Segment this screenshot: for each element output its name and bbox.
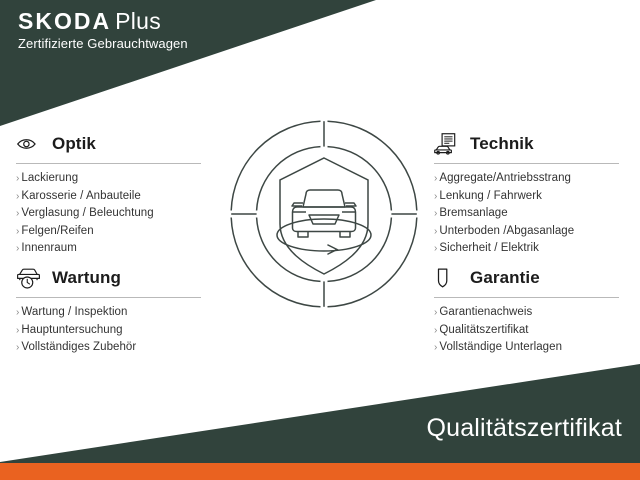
chevron-right-icon: ›: [434, 191, 437, 202]
eye-icon: [16, 131, 46, 157]
list-item-label: Sicherheit / Elektrik: [439, 242, 538, 254]
section-title: Technik: [470, 134, 534, 154]
brand-lockup: SKODAPlus Zertifizierte Gebrauchtwagen: [18, 8, 318, 52]
shield-icon: [434, 265, 464, 291]
chevron-right-icon: ›: [434, 342, 437, 353]
list-item-label: Bremsanlage: [439, 207, 507, 219]
list-item-label: Vollständige Unterlagen: [439, 341, 562, 353]
list-item: ›Bremsanlage: [434, 205, 634, 223]
section-item-list: ›Lackierung ›Karosserie / Anbauteile ›Ve…: [16, 170, 216, 258]
chevron-right-icon: ›: [16, 243, 19, 254]
section-title: Wartung: [52, 268, 121, 288]
chevron-right-icon: ›: [16, 173, 19, 184]
list-item-label: Hauptuntersuchung: [21, 324, 122, 336]
list-item-label: Vollständiges Zubehör: [21, 341, 136, 353]
section-optik: Optik ›Lackierung ›Karosserie / Anbautei…: [16, 130, 216, 258]
list-item: ›Sicherheit / Elektrik: [434, 240, 634, 258]
section-garantie: Garantie ›Garantienachweis ›Qualitätszer…: [434, 264, 634, 357]
section-divider: [16, 163, 201, 164]
chevron-right-icon: ›: [16, 307, 19, 318]
list-item-label: Qualitätszertifikat: [439, 324, 528, 336]
chevron-right-icon: ›: [434, 307, 437, 318]
brand-title-row: SKODAPlus: [18, 8, 318, 35]
list-item: ›Aggregate/Antriebsstrang: [434, 170, 634, 188]
brand-tagline: Zertifizierte Gebrauchtwagen: [18, 36, 318, 52]
chevron-right-icon: ›: [16, 342, 19, 353]
section-wartung: Wartung ›Wartung / Inspektion ›Hauptunte…: [16, 264, 216, 357]
list-item-label: Aggregate/Antriebsstrang: [439, 172, 571, 184]
section-item-list: ›Aggregate/Antriebsstrang ›Lenkung / Fah…: [434, 170, 634, 258]
section-divider: [16, 297, 201, 298]
chevron-right-icon: ›: [434, 226, 437, 237]
list-item-label: Wartung / Inspektion: [21, 306, 127, 318]
section-divider: [434, 163, 619, 164]
list-item: ›Verglasung / Beleuchtung: [16, 205, 216, 223]
section-divider: [434, 297, 619, 298]
section-header: Technik: [434, 130, 634, 158]
list-item-label: Karosserie / Anbauteile: [21, 190, 140, 202]
section-header: Optik: [16, 130, 216, 158]
chevron-right-icon: ›: [16, 226, 19, 237]
orange-bottom-bar: [0, 463, 640, 480]
car-document-icon: [434, 131, 464, 157]
chevron-right-icon: ›: [16, 325, 19, 336]
list-item-label: Lackierung: [21, 172, 78, 184]
list-item-label: Innenraum: [21, 242, 76, 254]
brand-name: SKODA: [18, 8, 111, 34]
car-service-icon: [16, 265, 46, 291]
brand-suffix: Plus: [115, 8, 161, 34]
list-item: ›Felgen/Reifen: [16, 223, 216, 241]
chevron-right-icon: ›: [16, 191, 19, 202]
list-item: ›Garantienachweis: [434, 304, 634, 322]
car-shield-circle-emblem: [228, 118, 420, 310]
list-item-label: Verglasung / Beleuchtung: [21, 207, 153, 219]
section-item-list: ›Garantienachweis ›Qualitätszertifikat ›…: [434, 304, 634, 357]
chevron-right-icon: ›: [434, 325, 437, 336]
list-item-label: Felgen/Reifen: [21, 225, 93, 237]
section-technik: Technik ›Aggregate/Antriebsstrang ›Lenku…: [434, 130, 634, 258]
list-item: ›Karosserie / Anbauteile: [16, 188, 216, 206]
list-item-label: Lenkung / Fahrwerk: [439, 190, 542, 202]
certificate-page: SKODAPlus Zertifizierte Gebrauchtwagen O…: [0, 0, 640, 480]
list-item: ›Lackierung: [16, 170, 216, 188]
list-item-label: Garantienachweis: [439, 306, 532, 318]
section-header: Garantie: [434, 264, 634, 292]
list-item-label: Unterboden /Abgasanlage: [439, 225, 574, 237]
section-title: Optik: [52, 134, 96, 154]
list-item: ›Innenraum: [16, 240, 216, 258]
list-item: ›Qualitätszertifikat: [434, 322, 634, 340]
list-item: ›Vollständiges Zubehör: [16, 339, 216, 357]
list-item: ›Wartung / Inspektion: [16, 304, 216, 322]
chevron-right-icon: ›: [16, 208, 19, 219]
chevron-right-icon: ›: [434, 243, 437, 254]
list-item: ›Hauptuntersuchung: [16, 322, 216, 340]
list-item: ›Vollständige Unterlagen: [434, 339, 634, 357]
section-title: Garantie: [470, 268, 540, 288]
section-header: Wartung: [16, 264, 216, 292]
footer-caption: Qualitätszertifikat: [426, 413, 622, 443]
section-item-list: ›Wartung / Inspektion ›Hauptuntersuchung…: [16, 304, 216, 357]
list-item: ›Unterboden /Abgasanlage: [434, 223, 634, 241]
list-item: ›Lenkung / Fahrwerk: [434, 188, 634, 206]
chevron-right-icon: ›: [434, 173, 437, 184]
chevron-right-icon: ›: [434, 208, 437, 219]
